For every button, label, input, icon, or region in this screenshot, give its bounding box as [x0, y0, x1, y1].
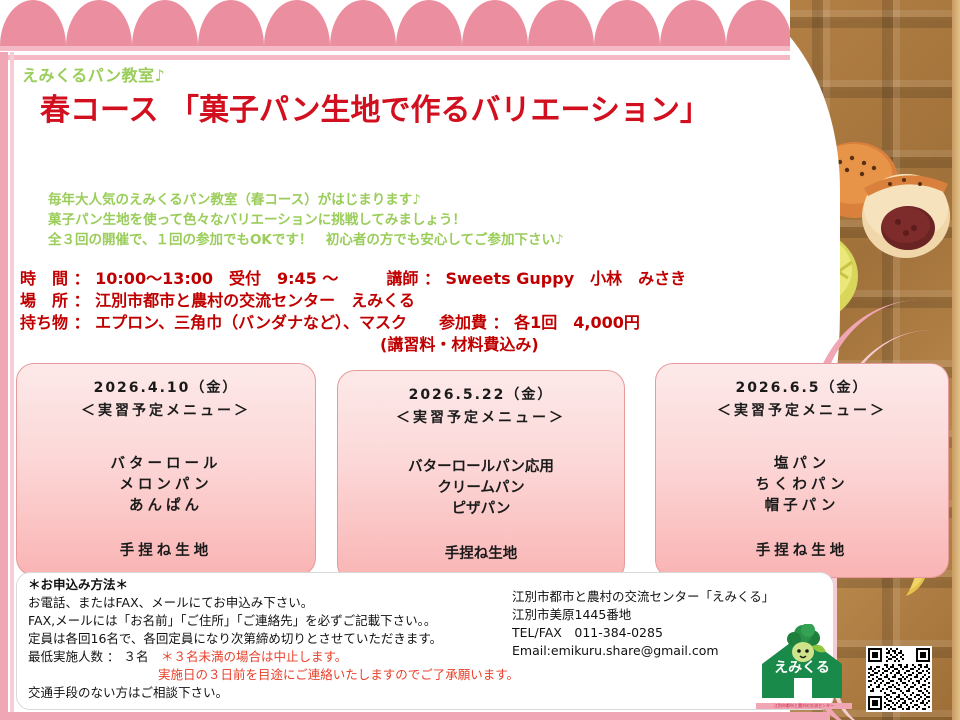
menu-item: バターロール: [17, 454, 315, 475]
contact-address: 江別市美原1445番地: [512, 606, 774, 624]
menu-item: バターロールパン応用: [338, 457, 624, 478]
svg-text:えみくる: えみくる: [774, 660, 830, 676]
menu-item: ちくわパン: [656, 475, 948, 496]
session-menu-header: ＜実習予定メニュー＞: [338, 407, 624, 427]
session-card-3[interactable]: 2026.6.5（金） ＜実習予定メニュー＞ 塩パン ちくわパン 帽子パン 手捏…: [655, 363, 949, 578]
session-menu-items: 塩パン ちくわパン 帽子パン: [656, 454, 948, 517]
menu-item: 塩パン: [656, 454, 948, 475]
logo-caption: 江別市都市と農村の交流センター: [756, 703, 852, 709]
transport-note: 交通手段のない方はご相談下さい。: [28, 682, 228, 701]
session-date: 2026.6.5（金）: [656, 377, 948, 397]
application-instructions: ＊お申込み方法＊ お電話、またはFAX、メールにてお申込み下さい。 FAX,メー…: [28, 576, 519, 684]
session-menu-header: ＜実習予定メニュー＞: [656, 400, 948, 420]
contact-center-name: 江別市都市と農村の交流センター「えみくる」: [512, 588, 774, 606]
contact-info: 江別市都市と農村の交流センター「えみくる」 江別市美原1445番地 TEL/FA…: [512, 588, 774, 660]
session-date: 2026.4.10（金）: [17, 377, 315, 397]
menu-item: あんぱん: [17, 496, 315, 517]
session-menu-header: ＜実習予定メニュー＞: [17, 400, 315, 420]
session-card-2[interactable]: 2026.5.22（金） ＜実習予定メニュー＞ バターロールパン応用 クリームパ…: [337, 370, 625, 582]
session-menu-items: バターロール メロンパン あんぱん: [17, 454, 315, 517]
menu-item: 帽子パン: [656, 496, 948, 517]
menu-item: メロンパン: [17, 475, 315, 496]
application-header: ＊お申込み方法＊: [28, 576, 519, 594]
menu-item: ピザパン: [338, 499, 624, 520]
contact-email: Email:emikuru.share@gmail.com: [512, 642, 774, 660]
emikuru-house-icon: えみくる: [756, 624, 852, 702]
application-line-4: 最低実施人数 ： ３名 ＊３名未満の場合は中止します。: [28, 648, 519, 666]
session-card-1[interactable]: 2026.4.10（金） ＜実習予定メニュー＞ バターロール メロンパン あんぱ…: [16, 363, 316, 576]
contact-phone: TEL/FAX 011-384-0285: [512, 624, 774, 642]
application-line-1: お電話、またはFAX、メールにてお申込み下さい。: [28, 594, 519, 612]
session-menu-items: バターロールパン応用 クリームパン ピザパン: [338, 457, 624, 520]
min-participants-label: 最低実施人数 ： ３名: [28, 649, 161, 664]
min-participants-warning: ＊３名未満の場合は中止します。: [161, 649, 347, 664]
application-line-2: FAX,メールには「お名前」「ご住所」「ご連絡先」を必ずご記載下さい。。: [28, 612, 519, 630]
application-line-3: 定員は各回16名で、各回定員になり次第締め切りとさせていただきます。: [28, 630, 519, 648]
session-dough-type: 手捏ね生地: [656, 539, 948, 560]
menu-item: クリームパン: [338, 478, 624, 499]
poster-root: えみくるパン教室♪ 春コース 「菓子パン生地で作るバリエーション」 毎年大人気の…: [0, 0, 960, 720]
emikuru-logo: えみくる 江別市都市と農村の交流センター: [756, 624, 846, 698]
session-dough-type: 手捏ね生地: [338, 542, 624, 563]
session-dough-type: 手捏ね生地: [17, 539, 315, 560]
session-date: 2026.5.22（金）: [338, 384, 624, 404]
qr-code[interactable]: [866, 646, 932, 712]
